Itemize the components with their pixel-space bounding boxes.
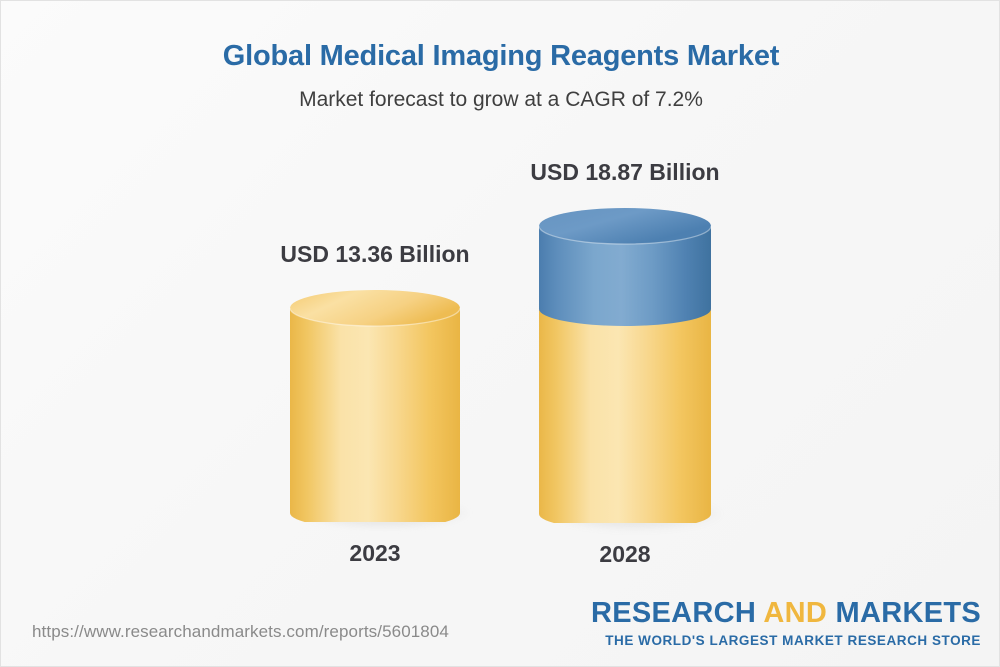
bar-group-2028: USD 18.87 Billion [514, 159, 736, 568]
bar-value-label-2023: USD 13.36 Billion [265, 241, 485, 269]
bar-group-2023: USD 13.36 Billion [265, 241, 485, 567]
cylinder-2023 [289, 287, 461, 522]
brand-tagline: THE WORLD'S LARGEST MARKET RESEARCH STOR… [591, 634, 981, 648]
cylinder-graphic-2023 [289, 287, 461, 522]
source-url[interactable]: https://www.researchandmarkets.com/repor… [32, 622, 449, 642]
chart-plot-area: USD 13.36 Billion [1, 1, 1000, 667]
cylinder-graphic-2028 [538, 205, 712, 523]
brand-logo: RESEARCH AND MARKETS THE WORLD'S LARGEST… [591, 599, 981, 648]
bar-axis-label-2023: 2023 [265, 540, 485, 568]
bar-axis-label-2028: 2028 [514, 541, 736, 569]
brand-name-part1: RESEARCH [591, 597, 763, 629]
brand-name-part2: MARKETS [827, 597, 981, 629]
brand-name-and: AND [763, 597, 827, 629]
cylinder-2028 [538, 205, 712, 523]
brand-name: RESEARCH AND MARKETS [591, 599, 981, 628]
infographic-canvas: Global Medical Imaging Reagents Market M… [0, 0, 1000, 667]
bar-value-label-2028: USD 18.87 Billion [514, 159, 736, 187]
